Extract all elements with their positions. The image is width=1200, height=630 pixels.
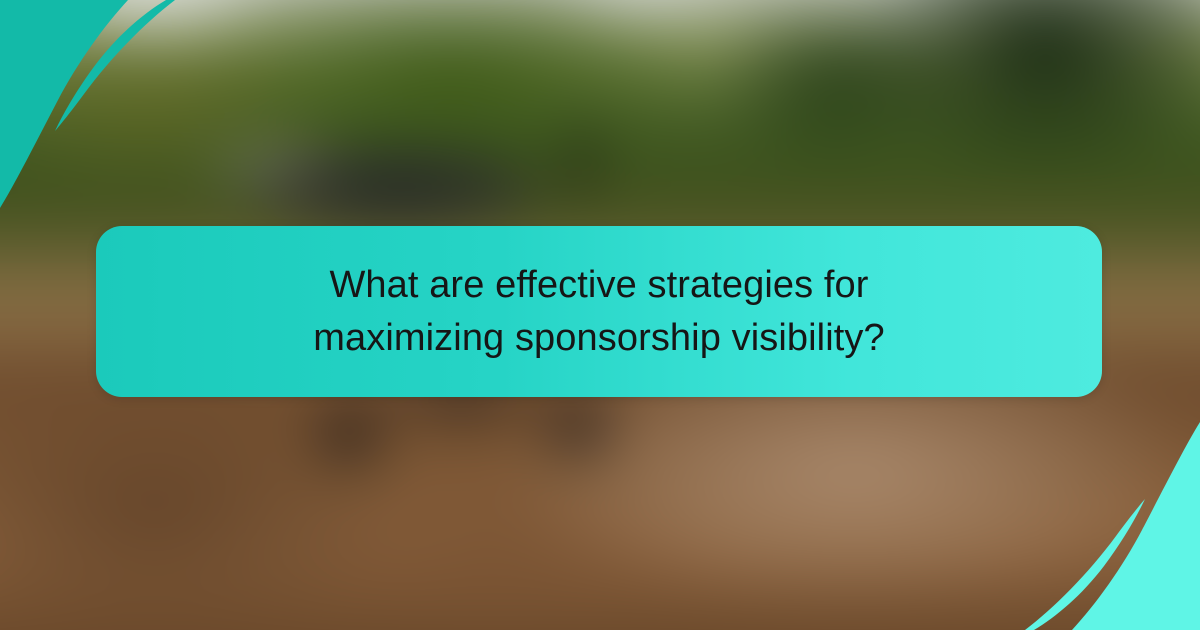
bottom-right-teal-swoosh bbox=[1072, 422, 1200, 630]
top-left-teal-swoosh bbox=[0, 0, 128, 208]
question-card: What are effective strategies for maximi… bbox=[96, 226, 1102, 397]
social-card-canvas: What are effective strategies for maximi… bbox=[0, 0, 1200, 630]
question-text: What are effective strategies for maximi… bbox=[313, 259, 885, 364]
